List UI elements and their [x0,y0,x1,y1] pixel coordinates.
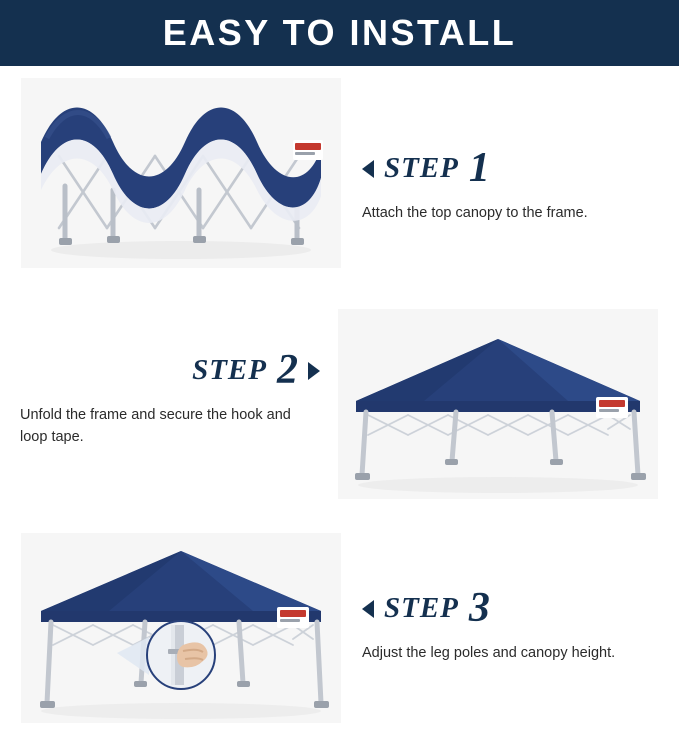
step-3-word: STEP [384,592,459,625]
canopy-top-over-frame-photo [21,78,341,268]
step-3-heading: STEP 3 [362,590,662,628]
magnifier-inset-icon [147,621,215,689]
step-1-heading: STEP 1 [362,150,662,188]
step-3-description: Adjust the leg poles and canopy height. [362,642,662,664]
step-2-word: STEP [192,354,267,387]
step-1-description: Attach the top canopy to the frame. [362,202,662,224]
brand-tag-icon [277,607,309,628]
step-1-text: STEP 1 Attach the top canopy to the fram… [362,150,662,224]
arrow-left-icon [362,160,374,178]
brand-tag-icon [596,397,628,418]
step-2-heading: STEP 2 [20,352,320,390]
page-title: EASY TO INSTALL [163,12,517,54]
brand-tag-icon [293,140,323,160]
step-3-text: STEP 3 Adjust the leg poles and canopy h… [362,590,662,664]
step-2-text: STEP 2 Unfold the frame and secure the h… [20,352,320,449]
step-2-number: 2 [277,352,298,390]
unfolded-canopy-photo [338,309,658,499]
arrow-right-icon [308,362,320,380]
step-1-word: STEP [384,152,459,185]
arrow-left-icon [362,600,374,618]
header-banner: EASY TO INSTALL [0,0,679,66]
step-1-number: 1 [469,150,490,188]
step-2-description: Unfold the frame and secure the hook and… [20,404,320,449]
leg-height-adjust-photo [21,533,341,723]
step-3-number: 3 [469,590,490,628]
